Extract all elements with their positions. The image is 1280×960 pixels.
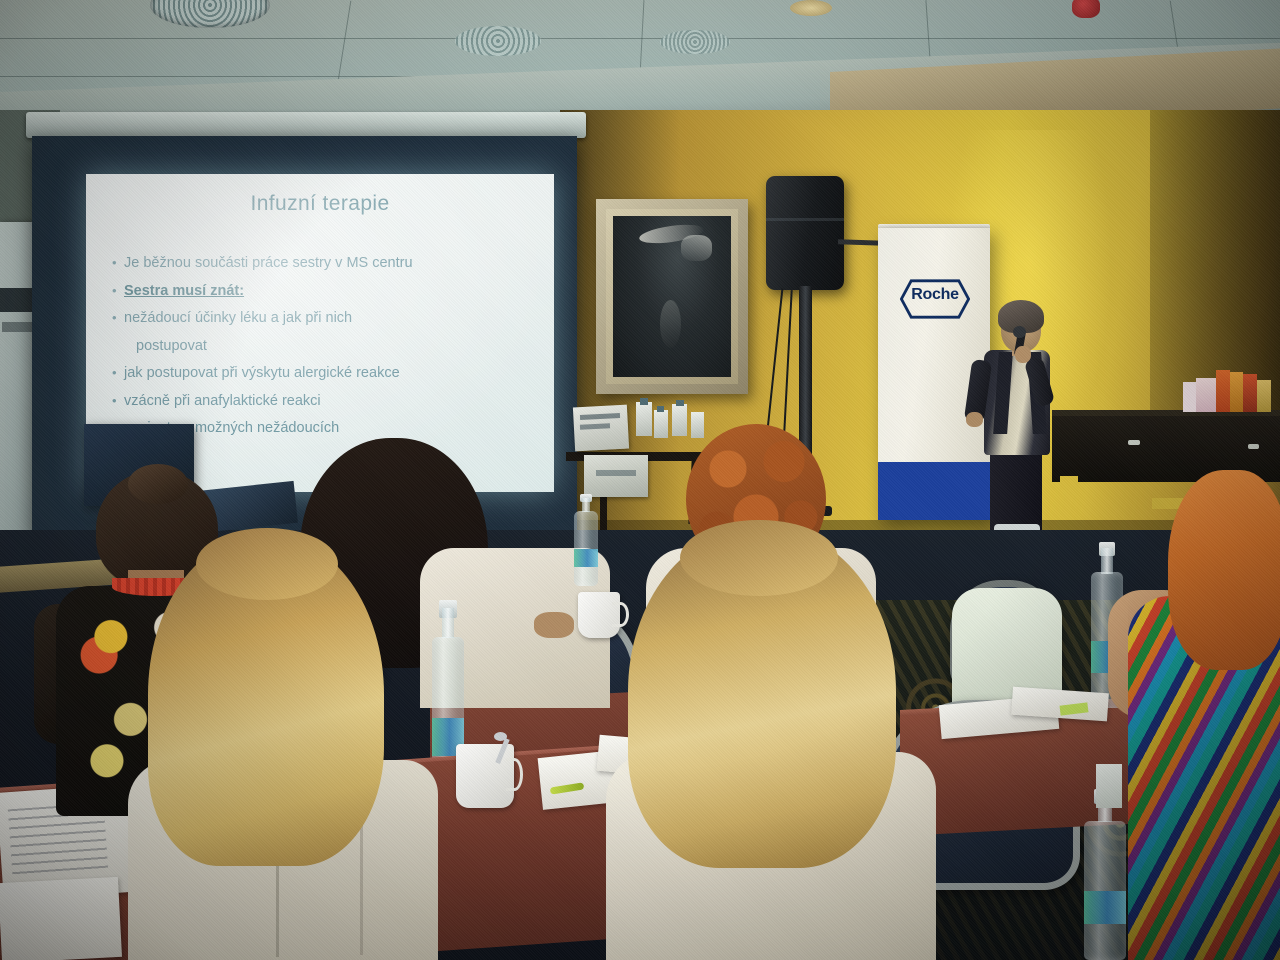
slide-bullet: •Je běžnou součásti práce sestry v MS ce…	[112, 254, 536, 274]
audience-member-hand	[534, 612, 574, 638]
gift-item	[1243, 374, 1257, 412]
slide-bullet-text: Je běžnou součásti práce sestry v MS cen…	[124, 254, 413, 274]
gift-item	[1183, 382, 1197, 412]
prize-item	[691, 412, 704, 438]
slide-bullet-text: nežádoucí účinky léku a jak při nich	[124, 309, 352, 329]
ceiling-air-vent	[455, 26, 541, 56]
conference-room-photo: Infuzní terapie •Je běžnou součásti prác…	[0, 0, 1280, 960]
presenter-hand-right	[1015, 346, 1031, 363]
paper-handout	[0, 877, 122, 960]
projector-screen-case	[26, 112, 586, 138]
slide-title: Infuzní terapie	[86, 192, 554, 216]
slide-bullet-text: vzácně při anafylaktické reakci	[124, 392, 321, 412]
gift-item	[1257, 380, 1271, 412]
flipchart-label	[2, 322, 36, 332]
gift-item	[1196, 378, 1216, 412]
slide-bullet: •vzácně při anafylaktické reakci	[112, 392, 536, 412]
audience-member-hair-top	[196, 528, 338, 600]
slide-bullet-text: jak postupovat při výskytu alergické rea…	[124, 364, 400, 384]
bullet-dot-icon: •	[112, 309, 124, 327]
water-bottle	[568, 498, 604, 586]
signage-card	[584, 455, 648, 497]
signage-text-line	[596, 470, 636, 476]
smoke-detector-icon	[1072, 0, 1100, 18]
presenter-hand-left	[966, 412, 983, 427]
audience-member-hair-bun	[128, 464, 188, 504]
water-bottle	[1074, 796, 1136, 960]
bullet-dot-icon: •	[112, 282, 124, 300]
bullet-dot-icon: •	[112, 364, 124, 382]
pa-speaker	[766, 176, 844, 290]
artwork-canvas	[613, 216, 731, 377]
coffee-cup	[578, 592, 620, 638]
bullet-dot-icon: •	[112, 392, 124, 410]
pa-speaker-seam	[766, 218, 844, 221]
prize-item-cap	[657, 406, 664, 412]
paper-handout	[1096, 764, 1122, 808]
framed-artwork	[596, 199, 748, 394]
gift-item	[1216, 370, 1230, 412]
flipchart-band	[0, 288, 34, 312]
ceiling-air-vent	[660, 30, 730, 54]
prize-item	[636, 402, 652, 436]
counter-highlight	[1128, 440, 1140, 445]
gift-item	[1230, 372, 1243, 412]
counter-highlight	[1248, 444, 1259, 449]
coffee-cup	[456, 744, 514, 808]
audience-member-hair	[1168, 470, 1280, 670]
slide-bullet: •nežádoucí účinky léku a jak při nich	[112, 309, 536, 329]
roche-wordmark: Roche	[900, 286, 970, 304]
slide-bullet-text: Sestra musí znát:	[124, 282, 244, 302]
banner-accent-band	[878, 462, 990, 520]
slide-bullet: •jak postupovat při výskytu alergické re…	[112, 364, 536, 384]
wall-right-shadow	[1150, 110, 1280, 410]
prize-item	[654, 410, 668, 438]
artwork-mat	[606, 209, 738, 384]
slide-bullet: •Sestra musí znát:	[112, 282, 536, 302]
audience-member-hair-top	[680, 520, 838, 596]
prize-item-cap	[676, 400, 684, 406]
ceiling-downlight	[790, 0, 832, 16]
bullet-dot-icon: •	[112, 254, 124, 272]
wall-trim	[1060, 476, 1078, 490]
prize-item	[672, 404, 687, 436]
slide-bullet: •postupovat	[124, 337, 536, 357]
prize-item-cap	[640, 398, 648, 405]
microphone-head-icon	[1013, 326, 1026, 338]
slide-bullet-text: postupovat	[136, 337, 207, 357]
